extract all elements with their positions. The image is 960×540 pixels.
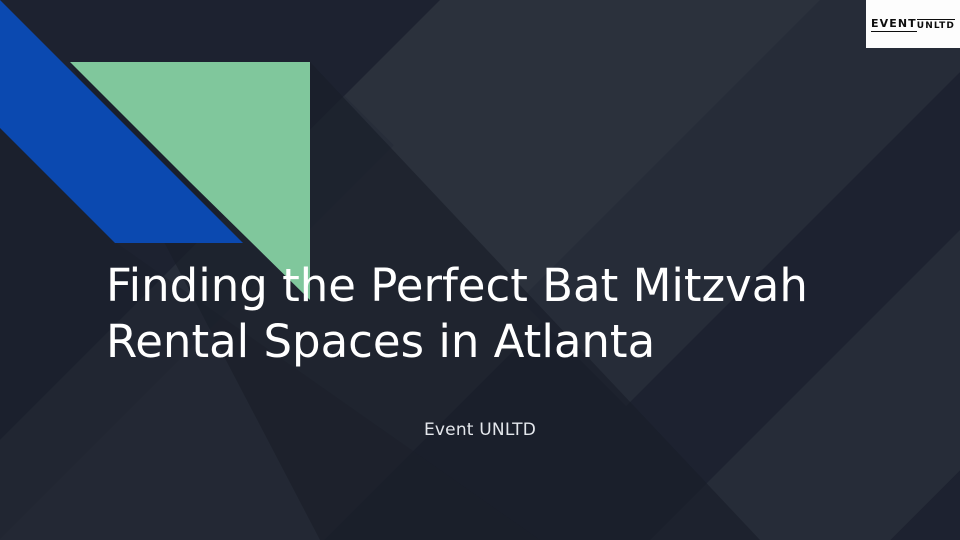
presentation-slide: Finding the Perfect Bat Mitzvah Rental S… [0,0,960,540]
logo-word-event: EVENT [871,18,917,32]
slide-subtitle: Event UNLTD [0,420,960,440]
brand-logo: EVENT UNLTD [866,0,960,48]
slide-title: Finding the Perfect Bat Mitzvah Rental S… [106,258,886,370]
logo-word-unltd: UNLTD [917,19,955,31]
logo-mark: EVENT UNLTD [871,17,955,32]
